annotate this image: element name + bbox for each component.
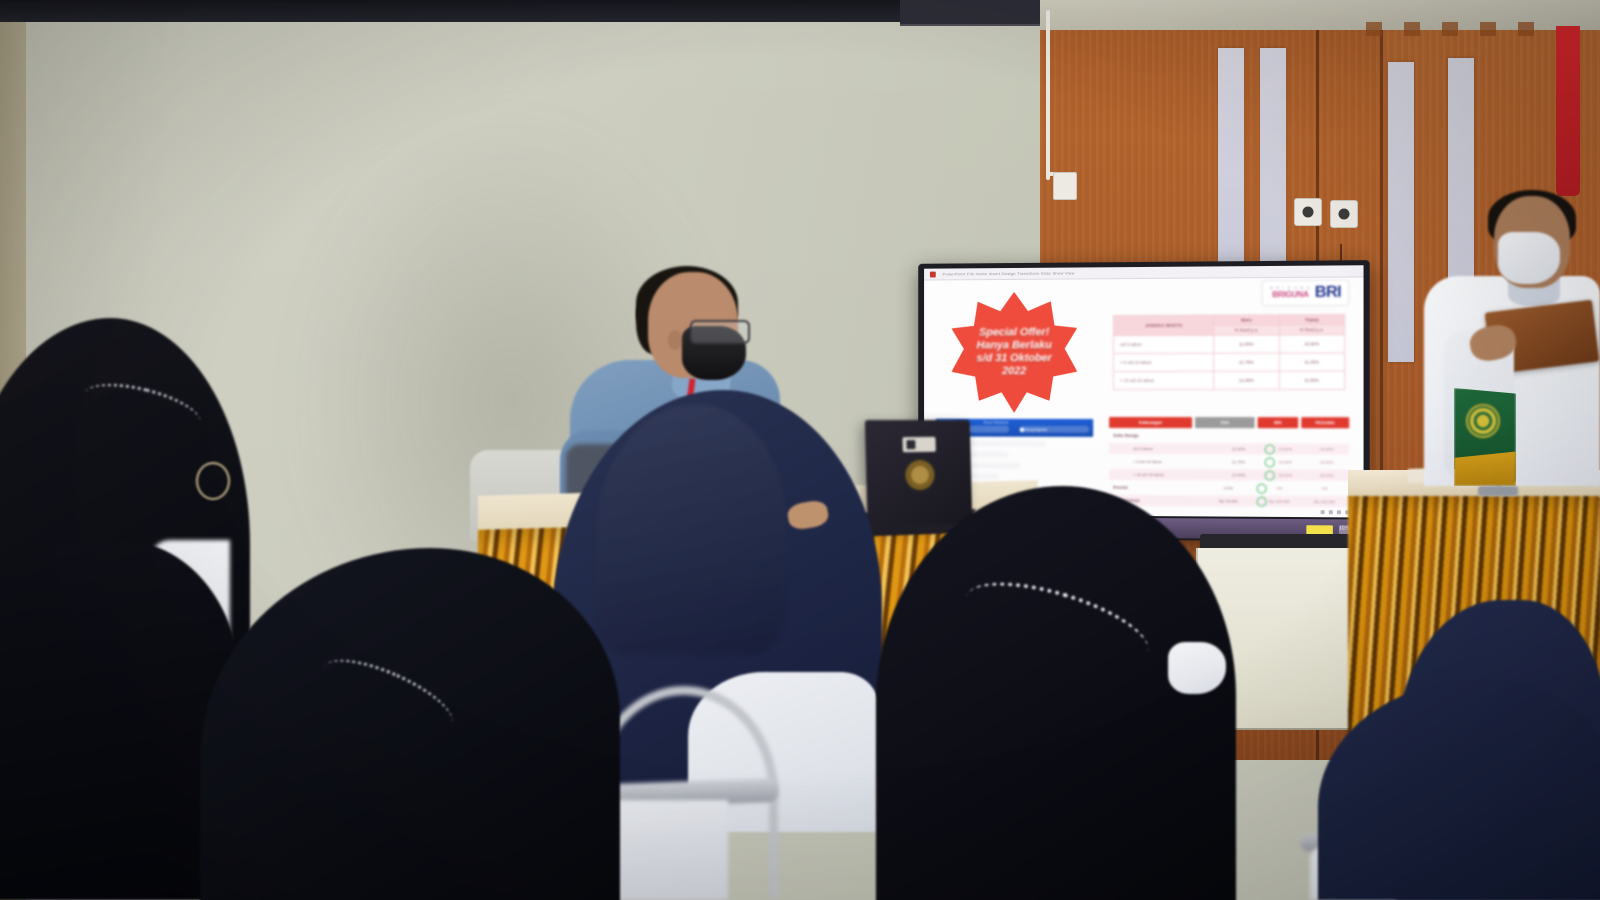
cmp-xxx: 11.00% bbox=[1211, 446, 1267, 451]
rate-term: s/d 5 tahun bbox=[1114, 335, 1214, 353]
status-dot-icon bbox=[1321, 510, 1325, 514]
check-ring-icon bbox=[1257, 483, 1267, 493]
ribbon-menu-text: PowerPoint File Home Insert Design Trans… bbox=[943, 271, 1075, 277]
rate-baru: 11.75% bbox=[1214, 353, 1279, 371]
powerpoint-icon bbox=[930, 271, 936, 277]
presenter-ear bbox=[668, 330, 682, 350]
wall-socket-left[interactable] bbox=[1294, 198, 1322, 226]
cornice-notch bbox=[1366, 22, 1382, 36]
blue-band-chip-right[interactable]: Hitung Angsuran bbox=[1019, 426, 1089, 433]
cmp-head-pesaing: PESAING bbox=[1301, 417, 1349, 428]
wall-socket-right[interactable] bbox=[1330, 200, 1358, 228]
comparison-section-label: Suku Bunga bbox=[1109, 430, 1349, 442]
light-switch[interactable] bbox=[1053, 172, 1077, 200]
starburst-line-2: Hanya Berlaku bbox=[977, 339, 1052, 352]
powerpoint-ribbon[interactable]: PowerPoint File Home Insert Design Trans… bbox=[924, 265, 1363, 280]
table-row: s/d 5 tahun 11.00% 13.00% 14.00% bbox=[1109, 443, 1349, 455]
cmp-xxx: Rp 75.000 bbox=[1198, 498, 1259, 503]
rate-baru: 12.00% bbox=[1214, 371, 1279, 389]
table-row: > 5 s/d 10 tahun 11.75% 14.00% 15.00% bbox=[1109, 456, 1349, 468]
photo-scene: PowerPoint File Home Insert Design Trans… bbox=[0, 0, 1600, 900]
briguna-wordmark: BRIGUNA bbox=[1272, 291, 1309, 299]
tv-screen: PowerPoint File Home Insert Design Trans… bbox=[924, 265, 1363, 517]
face-mask-icon bbox=[1498, 232, 1560, 284]
rate-col-group-topup: Topup bbox=[1279, 314, 1345, 324]
eyeglasses-icon bbox=[196, 462, 230, 500]
wall-conduit bbox=[1046, 10, 1050, 180]
special-offer-starburst: Special Offer! Hanya Berlaku s/d 31 Okto… bbox=[951, 291, 1077, 413]
status-dot-icon bbox=[1337, 510, 1341, 514]
eyeglasses-icon bbox=[690, 320, 750, 344]
rate-table: JANGKA WAKTU Baru Topup % fixed p.a. % f… bbox=[1113, 314, 1345, 390]
status-dot-icon bbox=[1329, 510, 1333, 514]
window-frame bbox=[900, 0, 1040, 26]
cornice-notch bbox=[1480, 22, 1496, 36]
cmp-section-sukubunga: Suku Bunga bbox=[1109, 433, 1198, 438]
cornice-notch bbox=[1442, 22, 1458, 36]
laptop-emblem-sticker bbox=[905, 460, 935, 491]
cmp-pesaing: Rp 150.000 bbox=[1300, 499, 1349, 504]
cornice-notch bbox=[1518, 22, 1534, 36]
rate-col-group-baru: Baru bbox=[1214, 315, 1279, 325]
check-ring-icon bbox=[1257, 496, 1267, 506]
check-ring-icon bbox=[1265, 444, 1275, 454]
blue-band-label-right: PILIH PRODUK bbox=[983, 421, 1008, 425]
table-row: > 5 s/d 10 tahun 11.75% 11.25% bbox=[1114, 353, 1345, 372]
rate-topup: 11.25% bbox=[1279, 353, 1345, 371]
rate-topup: 11.50% bbox=[1279, 371, 1345, 389]
cmp-pesaing: 14.00% bbox=[1304, 446, 1349, 451]
cmp-head-xxx: XXX bbox=[1195, 417, 1255, 428]
flag-emblem-icon bbox=[1466, 404, 1500, 438]
hijab-fold bbox=[596, 404, 786, 654]
cmp-label: Provisi bbox=[1109, 485, 1198, 490]
wall-light-stripe bbox=[1388, 62, 1414, 362]
cornice bbox=[1040, 0, 1600, 30]
rate-term: > 5 s/d 10 tahun bbox=[1114, 353, 1214, 371]
rate-baru: 11.00% bbox=[1214, 335, 1279, 353]
check-ring-icon bbox=[1265, 457, 1275, 467]
briguna-lockup: B R I G U N A BRIGUNA bbox=[1270, 287, 1310, 299]
flag-base bbox=[1478, 486, 1518, 496]
rate-unit-baru: % fixed p.a. bbox=[1214, 325, 1279, 335]
laptop[interactable] bbox=[865, 420, 973, 529]
rate-unit-topup: % fixed p.a. bbox=[1279, 325, 1345, 335]
starburst-line-4: 2022 bbox=[1002, 365, 1026, 378]
cmp-label: > 10 s/d 15 tahun bbox=[1109, 472, 1211, 477]
cmp-label: > 5 s/d 10 tahun bbox=[1109, 459, 1211, 464]
table-row: > 10 s/d 15 tahun 12.00% 15.00% 16.00% bbox=[1109, 469, 1349, 481]
rate-term: > 10 s/d 15 tahun bbox=[1114, 371, 1214, 389]
table-row: Provisi 0.5% 1% 1% bbox=[1109, 482, 1349, 494]
ceiling-dark-band bbox=[0, 0, 1035, 22]
cmp-head-keterangan: Keterangan bbox=[1109, 417, 1192, 428]
rate-col-term: JANGKA WAKTU bbox=[1114, 315, 1214, 335]
cmp-label: s/d 5 tahun bbox=[1109, 446, 1211, 451]
laptop-asset-tag bbox=[902, 437, 935, 452]
cmp-xxx: 11.75% bbox=[1211, 459, 1267, 464]
table-row: > 10 s/d 15 tahun 12.00% 11.50% bbox=[1114, 371, 1345, 389]
table-row: s/d 5 tahun 11.00% 10.50% bbox=[1114, 335, 1345, 354]
bri-wordmark: BRI bbox=[1315, 284, 1341, 302]
table-row: Administrasi Rp 75.000 Rp 100.000 Rp 150… bbox=[1109, 495, 1349, 507]
starburst-line-1: Special Offer! bbox=[979, 326, 1049, 339]
cmp-xxx: 0.5% bbox=[1198, 485, 1259, 490]
comparison-header-row: Keterangan XXX BRI PESAING bbox=[1109, 417, 1349, 428]
cmp-pesaing: 1% bbox=[1300, 486, 1349, 491]
red-flag-sliver bbox=[1556, 26, 1580, 196]
cmp-xxx: 12.00% bbox=[1211, 472, 1267, 477]
cmp-pesaing: 16.00% bbox=[1304, 473, 1349, 478]
check-ring-icon bbox=[1265, 470, 1275, 480]
face-mask-icon bbox=[1168, 642, 1226, 694]
cmp-head-bri: BRI bbox=[1258, 417, 1298, 428]
cmp-pesaing: 15.00% bbox=[1304, 460, 1349, 465]
comparison-table: Keterangan XXX BRI PESAING Suku Bunga s/… bbox=[1109, 417, 1349, 507]
starburst-line-3: s/d 31 Oktober bbox=[977, 352, 1052, 365]
cornice-notch bbox=[1404, 22, 1420, 36]
rate-topup: 10.50% bbox=[1279, 335, 1345, 353]
briguna-bri-logo: B R I G U N A BRIGUNA BRI bbox=[1262, 280, 1349, 307]
